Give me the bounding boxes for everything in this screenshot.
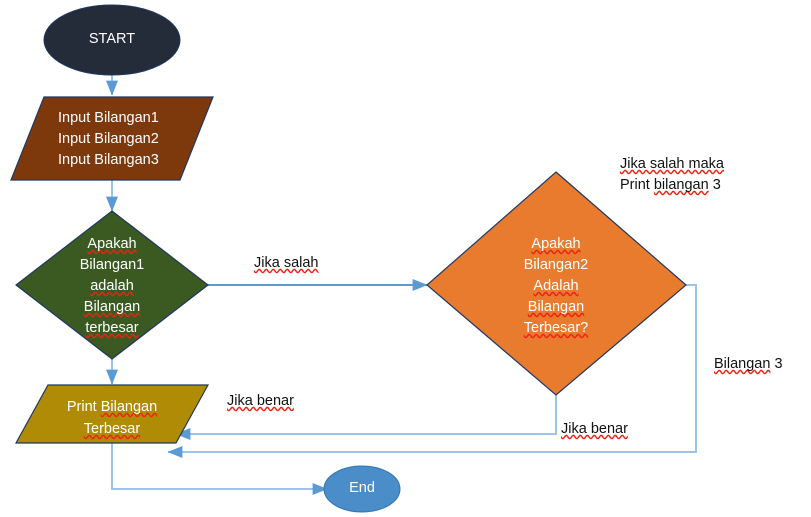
- edge-label-jika-benar-left: Jika benar: [227, 391, 294, 411]
- node-input-shape: [11, 97, 213, 180]
- node-start-shape: [44, 5, 180, 75]
- edge-label-jika-salah: Jika salah: [254, 253, 318, 273]
- node-end-shape: [324, 466, 400, 512]
- node-decision1-shape: [16, 211, 208, 359]
- edge-label-jika-benar-bottom: Jika benar: [561, 419, 628, 439]
- edge-label-bilangan-3: Bilangan 3: [714, 354, 783, 374]
- edge-output-to-end: [112, 443, 327, 489]
- node-decision2-shape: [427, 172, 686, 395]
- flowchart-svg: [0, 0, 811, 517]
- node-output-shape: [16, 385, 208, 443]
- annotation-jika-salah-maka: Jika salah makaPrint bilangan 3: [620, 154, 724, 196]
- flowchart-canvas: START Input Bilangan1 Input Bilangan2 In…: [0, 0, 811, 517]
